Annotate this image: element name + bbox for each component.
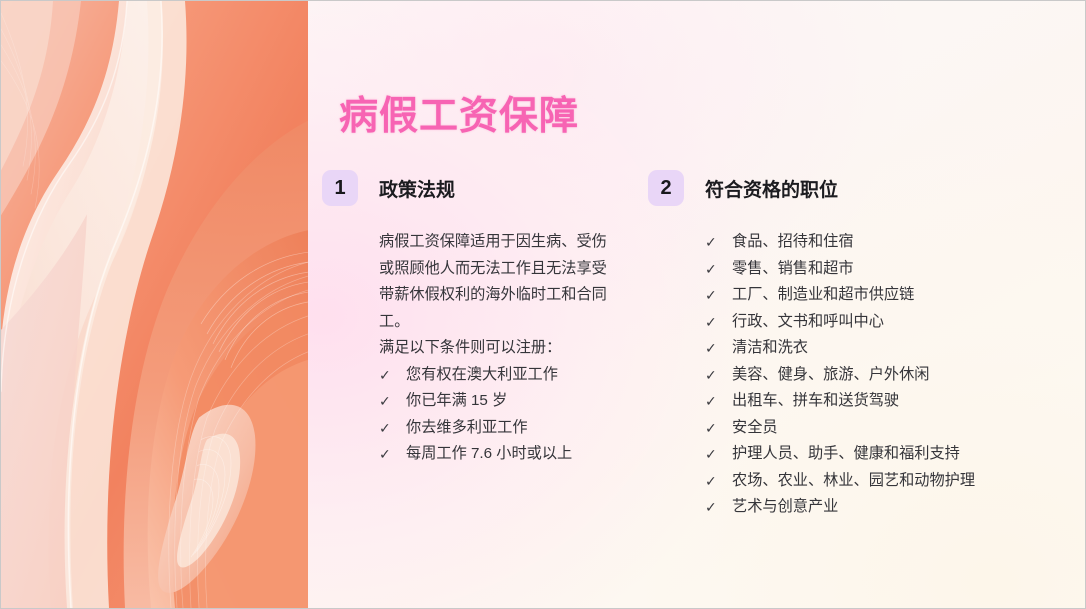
column-eligible-positions: 2 符合资格的职位 ✓ 食品、招待和住宿 ✓ 零售、销售和超市: [648, 169, 1048, 521]
list-item-label: 工厂、制造业和超市供应链: [732, 282, 914, 309]
check-icon: ✓: [705, 494, 718, 521]
list-item-label: 你去维多利亚工作: [406, 415, 528, 442]
list-item: ✓ 出租车、拼车和送货驾驶: [705, 388, 1048, 415]
check-icon: ✓: [705, 362, 718, 389]
check-icon: ✓: [705, 441, 718, 468]
page-title: 病假工资保障: [339, 85, 579, 141]
list-item: ✓ 安全员: [705, 415, 1048, 442]
check-icon: ✓: [379, 388, 392, 415]
content-panel: 病假工资保障 1 政策法规 病假工资保障适用于因生病、受伤或照顾他人而无法工作且…: [308, 1, 1085, 608]
list-item-label: 清洁和洗衣: [732, 335, 808, 362]
list-item: ✓ 美容、健身、旅游、户外休闲: [705, 362, 1048, 389]
list-item: ✓ 行政、文书和呼叫中心: [705, 309, 1048, 336]
list-item-label: 食品、招待和住宿: [732, 229, 854, 256]
list-item: ✓ 清洁和洗衣: [705, 335, 1048, 362]
list-item-label: 行政、文书和呼叫中心: [732, 309, 884, 336]
list-item: ✓ 每周工作 7.6 小时或以上: [379, 441, 632, 468]
check-icon: ✓: [705, 309, 718, 336]
column-2-check-list: ✓ 食品、招待和住宿 ✓ 零售、销售和超市 ✓ 工厂、制造业和超市供应链 ✓: [705, 229, 1048, 521]
list-item: ✓ 您有权在澳大利亚工作: [379, 362, 632, 389]
list-item: ✓ 工厂、制造业和超市供应链: [705, 282, 1048, 309]
column-1-paragraph: 病假工资保障适用于因生病、受伤或照顾他人而无法工作且无法享受带薪休假权利的海外临…: [379, 229, 615, 335]
check-icon: ✓: [705, 335, 718, 362]
check-icon: ✓: [705, 229, 718, 256]
list-item-label: 安全员: [732, 415, 778, 442]
list-item-label: 农场、农业、林业、园艺和动物护理: [732, 468, 975, 495]
list-item-label: 你已年满 15 岁: [406, 388, 507, 415]
list-item-label: 每周工作 7.6 小时或以上: [406, 441, 572, 468]
column-1-title: 政策法规: [379, 175, 455, 202]
list-item-label: 出租车、拼车和送货驾驶: [732, 388, 899, 415]
step-badge-1: 1: [322, 170, 358, 206]
column-2-header: 2 符合资格的职位: [648, 169, 1048, 207]
column-1-lead-in: 满足以下条件则可以注册：: [379, 335, 632, 362]
check-icon: ✓: [705, 468, 718, 495]
check-icon: ✓: [705, 256, 718, 283]
column-policy-regulations: 1 政策法规 病假工资保障适用于因生病、受伤或照顾他人而无法工作且无法享受带薪休…: [322, 169, 632, 468]
check-icon: ✓: [379, 441, 392, 468]
list-item-label: 艺术与创意产业: [732, 494, 838, 521]
column-2-body: ✓ 食品、招待和住宿 ✓ 零售、销售和超市 ✓ 工厂、制造业和超市供应链 ✓: [705, 229, 1048, 521]
list-item: ✓ 你去维多利亚工作: [379, 415, 632, 442]
list-item: ✓ 农场、农业、林业、园艺和动物护理: [705, 468, 1048, 495]
list-item-label: 您有权在澳大利亚工作: [406, 362, 558, 389]
list-item: ✓ 你已年满 15 岁: [379, 388, 632, 415]
column-1-header: 1 政策法规: [322, 169, 632, 207]
list-item-label: 美容、健身、旅游、户外休闲: [732, 362, 929, 389]
list-item: ✓ 食品、招待和住宿: [705, 229, 1048, 256]
check-icon: ✓: [379, 362, 392, 389]
check-icon: ✓: [705, 282, 718, 309]
check-icon: ✓: [705, 388, 718, 415]
list-item: ✓ 艺术与创意产业: [705, 494, 1048, 521]
list-item-label: 零售、销售和超市: [732, 256, 854, 283]
abstract-coral-waves-image: [1, 1, 308, 608]
slide-canvas: 病假工资保障 1 政策法规 病假工资保障适用于因生病、受伤或照顾他人而无法工作且…: [0, 0, 1086, 609]
step-badge-2: 2: [648, 170, 684, 206]
column-2-title: 符合资格的职位: [705, 175, 838, 202]
column-1-body: 病假工资保障适用于因生病、受伤或照顾他人而无法工作且无法享受带薪休假权利的海外临…: [379, 229, 632, 468]
list-item-label: 护理人员、助手、健康和福利支持: [732, 441, 960, 468]
wave-artwork-svg: [1, 1, 308, 608]
check-icon: ✓: [705, 415, 718, 442]
check-icon: ✓: [379, 415, 392, 442]
column-1-check-list: ✓ 您有权在澳大利亚工作 ✓ 你已年满 15 岁 ✓ 你去维多利亚工作 ✓: [379, 362, 632, 468]
list-item: ✓ 零售、销售和超市: [705, 256, 1048, 283]
list-item: ✓ 护理人员、助手、健康和福利支持: [705, 441, 1048, 468]
